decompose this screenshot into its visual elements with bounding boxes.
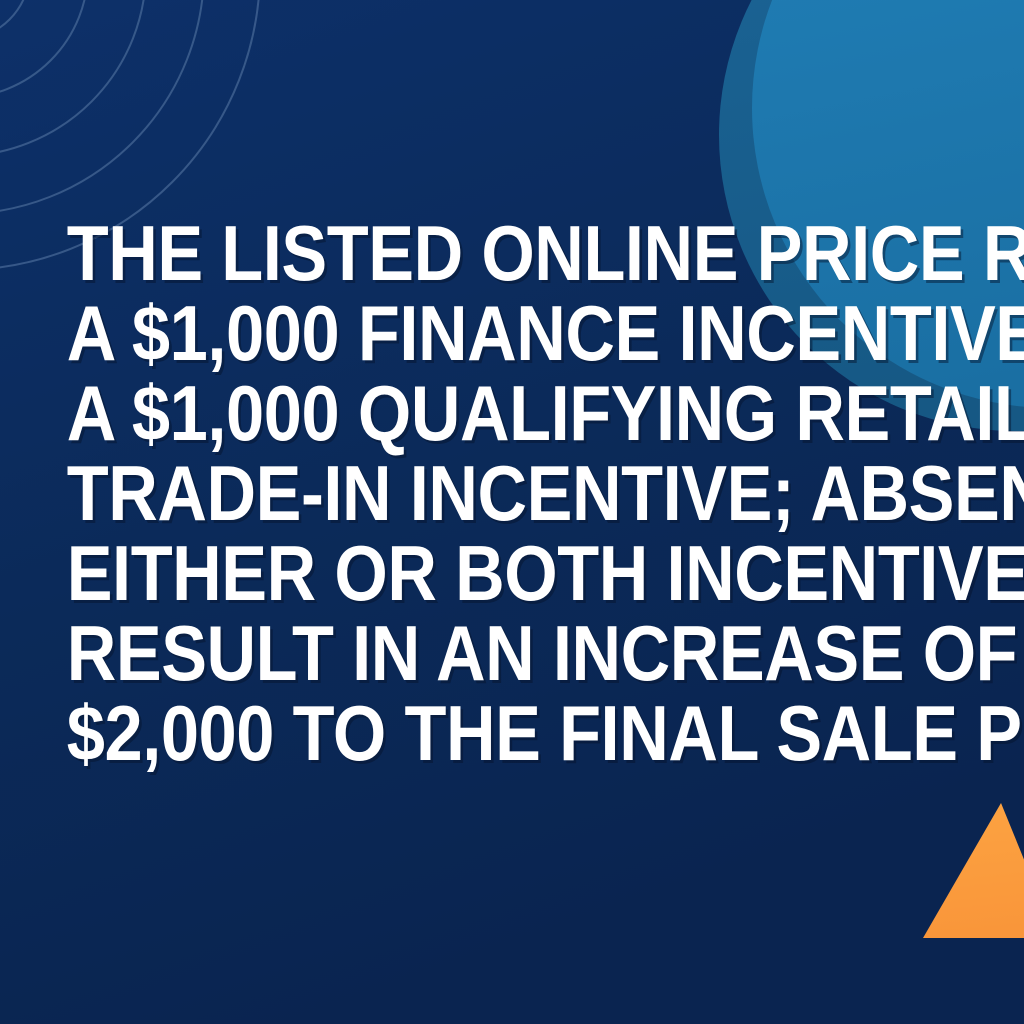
- disclaimer-line-4: TRADE-IN INCENTIVE; ABSENCE OF: [67, 453, 958, 533]
- disclaimer-line-7: $2,000 TO THE FINAL SALE PRICE.: [67, 693, 958, 773]
- promo-slide: THE LISTED ONLINE PRICE REFLECTS A $1,00…: [0, 0, 1024, 1024]
- disclaimer-line-5: EITHER OR BOTH INCENTIVES WILL: [67, 533, 958, 613]
- disclaimer-line-6: RESULT IN AN INCREASE OF UP TO: [67, 613, 958, 693]
- disclaimer-line-2: A $1,000 FINANCE INCENTIVE AND: [67, 293, 958, 373]
- disclaimer-line-1: THE LISTED ONLINE PRICE REFLECTS: [67, 213, 958, 293]
- disclaimer-headline: THE LISTED ONLINE PRICE REFLECTS A $1,00…: [61, 213, 962, 773]
- orange-triangle-shape: [923, 803, 1024, 938]
- disclaimer-line-3: A $1,000 QUALIFYING RETAIL: [67, 373, 958, 453]
